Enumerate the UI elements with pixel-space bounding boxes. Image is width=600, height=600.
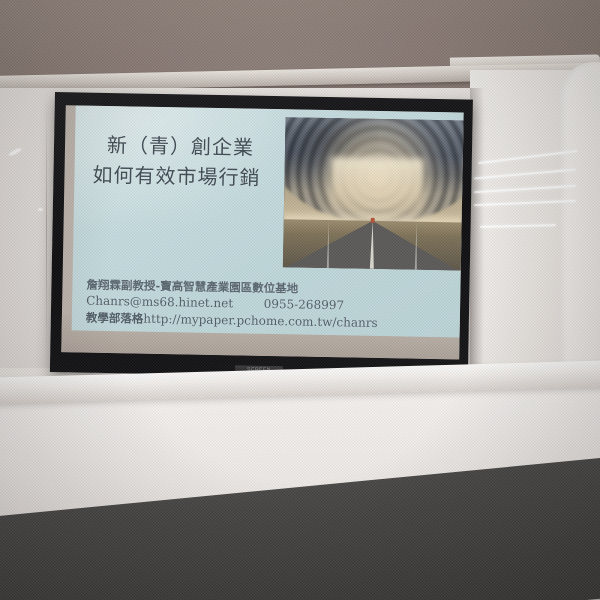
room-photo-scene: 新（青）創企業 如何有效市場行銷 詹翔霖副 bbox=[0, 0, 600, 600]
presentation-slide: 新（青）創企業 如何有效市場行銷 詹翔霖副 bbox=[72, 105, 464, 337]
screen-surface: 新（青）創企業 如何有效市場行銷 詹翔霖副 bbox=[61, 105, 463, 359]
wall-glint-3 bbox=[38, 208, 43, 211]
slide-footer: 詹翔霖副教授-寶高智慧產業園區數位基地 Chanrs@ms68.hinet.ne… bbox=[86, 278, 379, 332]
footer-blog-label: 教學部落格 bbox=[86, 311, 144, 326]
slide-title-line1: 新（青）創企業 bbox=[93, 130, 262, 163]
wall-seam-left bbox=[46, 100, 47, 360]
photo-distant-vehicle bbox=[371, 218, 375, 223]
slide-title-line2: 如何有效市場行銷 bbox=[92, 160, 261, 193]
storm-road-photo bbox=[283, 117, 464, 270]
projection-screen[interactable]: 新（青）創企業 如何有效市場行銷 詹翔霖副 bbox=[50, 92, 473, 380]
slide-title: 新（青）創企業 如何有效市場行銷 bbox=[92, 130, 261, 193]
footer-blog-url: http://mypaper.pchome.com.tw/chanrs bbox=[143, 312, 378, 330]
photo-rain-shaft bbox=[330, 157, 424, 219]
wall-right-rounded-corner bbox=[560, 62, 600, 412]
